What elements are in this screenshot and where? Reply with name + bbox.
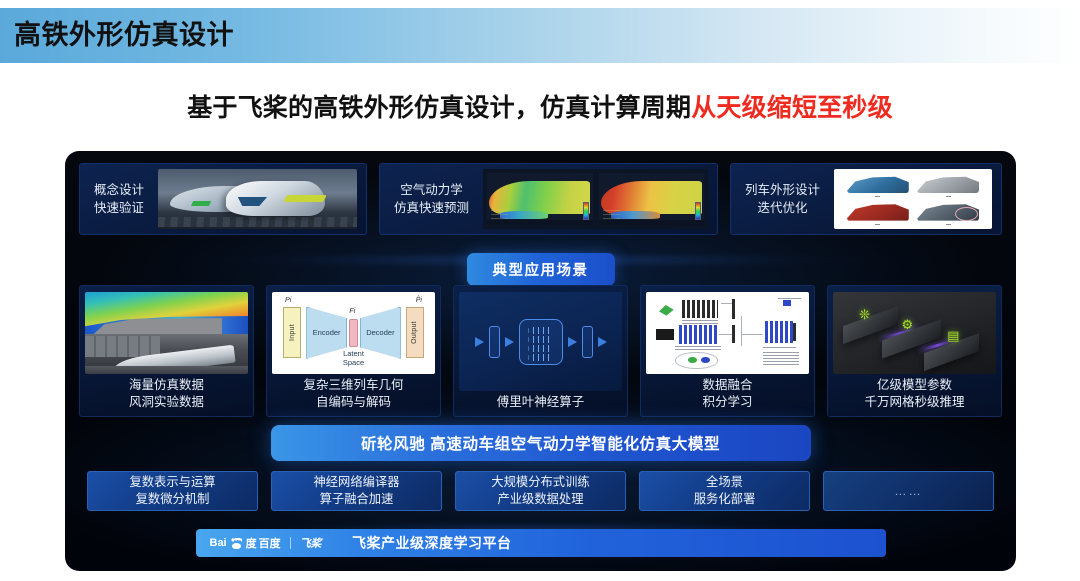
mid-card-line2: 自编码与解码 [316, 395, 391, 409]
top-card-label: 列车外形设计 迭代优化 [740, 181, 825, 217]
pill-line1: 大规模分布式训练 [491, 475, 589, 489]
pill-text: 全场景 服务化部署 [694, 474, 756, 508]
slide-root: 高铁外形仿真设计 基于飞桨的高铁外形仿真设计，仿真计算周期从天级缩短至秒级 概念… [0, 0, 1080, 581]
logo-divider [290, 537, 291, 549]
top-card-line2: 仿真快速预测 [394, 201, 469, 215]
ae-latent-block [349, 319, 357, 347]
pill-line2: 产业级数据处理 [497, 492, 583, 506]
mid-card-data-fusion[interactable]: 数据融合 积分学习 [640, 285, 815, 417]
top-card-line1: 空气动力学 [400, 183, 463, 197]
mid-card-line2: 风洞实验数据 [129, 395, 204, 409]
concept-train-photo-icon [158, 169, 357, 229]
ae-decoder-block: Decoder [360, 307, 401, 359]
data-fusion-poster-icon [646, 292, 809, 374]
mid-card-simulation-data[interactable]: 海量仿真数据 风洞实验数据 [79, 285, 254, 417]
mid-card-label: 复杂三维列车几何 自编码与解码 [303, 377, 403, 413]
mid-card-line1: 亿级模型参数 [877, 378, 952, 392]
capability-card-row: 海量仿真数据 风洞实验数据 Pi Fi P̂i Input Encoder [79, 285, 1002, 417]
pill-line2: 算子融合加速 [320, 492, 394, 506]
subtitle: 基于飞桨的高铁外形仿真设计，仿真计算周期从天级缩短至秒级 [0, 88, 1080, 124]
baidu-logo-cn: 百度 [259, 535, 281, 551]
big-model-banner[interactable]: 斫轮风驰 高速动车组空气动力学智能化仿真大模型 [271, 425, 811, 461]
top-card-label: 概念设计 快速验证 [89, 181, 149, 217]
pill-line1: 神经网络编译器 [313, 475, 399, 489]
isometric-compute-icon: ❊ ⚙ ▤ [833, 292, 996, 374]
ae-input-label: Input [289, 324, 296, 341]
pill-line1: …… [894, 483, 923, 500]
subtitle-black-part: 基于飞桨的高铁外形仿真设计，仿真计算周期 [187, 94, 691, 122]
cfd-contour-pair-icon [483, 169, 708, 229]
ae-latent-label: Latent Space [343, 349, 364, 368]
ae-latent-line1: Latent [343, 349, 364, 358]
pill-line1: 全场景 [706, 475, 743, 489]
pill-more[interactable]: …… [823, 471, 994, 511]
subtitle-red-part: 从天级缩短至秒级 [691, 94, 893, 122]
baidu-logo-suffix: 度 [246, 535, 257, 551]
pill-distributed-training[interactable]: 大规模分布式训练 产业级数据处理 [455, 471, 626, 511]
page-title: 高铁外形仿真设计 [14, 22, 234, 49]
ae-output-label: Output [411, 321, 418, 344]
pill-text: 神经网络编译器 算子融合加速 [313, 474, 399, 508]
ae-sym-input: Pi [285, 297, 291, 304]
pill-line1: 复数表示与运算 [129, 475, 215, 489]
ae-decoder-label: Decoder [366, 328, 394, 337]
ae-sym-output: P̂i [416, 297, 422, 304]
platform-capability-row: 复数表示与运算 复数微分机制 神经网络编译器 算子融合加速 大规模分布式训练 产… [87, 471, 994, 511]
pill-line2: 服务化部署 [694, 492, 756, 506]
ae-latent-line2: Space [343, 358, 364, 367]
mid-card-model-scale[interactable]: ❊ ⚙ ▤ 亿级模型参数 千万网格秒级推理 [827, 285, 1002, 417]
top-card-line2: 迭代优化 [758, 201, 808, 215]
mid-card-label: 亿级模型参数 千万网格秒级推理 [864, 377, 964, 413]
mid-card-line2: 积分学习 [702, 395, 752, 409]
scene-chip[interactable]: 典型应用场景 [467, 253, 615, 286]
platform-label: 飞桨产业级深度学习平台 [352, 533, 512, 553]
mid-card-line1: 海量仿真数据 [129, 378, 204, 392]
pill-neural-compiler[interactable]: 神经网络编译器 算子融合加速 [271, 471, 442, 511]
baidu-logo-prefix: Bai [210, 537, 227, 549]
pill-complex-arithmetic[interactable]: 复数表示与运算 复数微分机制 [87, 471, 258, 511]
wind-tunnel-cfd-icon [85, 292, 248, 374]
top-card-line2: 快速验证 [94, 201, 144, 215]
top-card-line1: 列车外形设计 [745, 183, 820, 197]
mid-card-line2: 千万网格秒级推理 [864, 395, 964, 409]
paw-icon [230, 538, 243, 549]
autoencoder-diagram-icon: Pi Fi P̂i Input Encoder Latent Space [272, 292, 435, 374]
top-card-label: 空气动力学 仿真快速预测 [389, 181, 474, 217]
mid-card-autoencoder[interactable]: Pi Fi P̂i Input Encoder Latent Space [266, 285, 441, 417]
mid-card-fourier-operator[interactable]: 傅里叶神经算子 [453, 285, 628, 417]
pill-line2: 复数微分机制 [136, 492, 210, 506]
ae-sym-latent: Fi [349, 308, 355, 315]
mid-card-label: 数据融合 积分学习 [702, 377, 752, 413]
mid-card-line1: 数据融合 [702, 378, 752, 392]
ae-output-block: Output [406, 307, 424, 358]
top-card-shape-iteration[interactable]: 列车外形设计 迭代优化 [730, 163, 1002, 235]
top-card-aerodynamics[interactable]: 空气动力学 仿真快速预测 [379, 163, 718, 235]
train-nose-variants-icon [834, 169, 992, 229]
fourier-neural-operator-icon [459, 292, 622, 391]
ae-encoder-label: Encoder [313, 328, 341, 337]
mid-card-line1: 傅里叶神经算子 [497, 395, 585, 409]
pill-text: 大规模分布式训练 产业级数据处理 [491, 474, 589, 508]
paddle-platform-banner[interactable]: Bai 度 百度 飞桨 飞桨产业级深度学习平台 [196, 529, 886, 557]
pill-text: 复数表示与运算 复数微分机制 [129, 474, 215, 508]
mid-card-label: 傅里叶神经算子 [497, 394, 585, 412]
mid-card-line1: 复杂三维列车几何 [303, 378, 403, 392]
baidu-logo: Bai 度 百度 [210, 535, 281, 551]
top-card-line1: 概念设计 [94, 183, 144, 197]
mid-card-label: 海量仿真数据 风洞实验数据 [129, 377, 204, 413]
pill-full-scenario-deploy[interactable]: 全场景 服务化部署 [639, 471, 810, 511]
ae-encoder-block: Encoder [306, 307, 347, 359]
header-bar: 高铁外形仿真设计 [0, 8, 1080, 63]
architecture-panel: 概念设计 快速验证 空气动力学 仿真快 [65, 151, 1016, 571]
application-scenario-row: 概念设计 快速验证 空气动力学 仿真快 [79, 163, 1002, 235]
ae-input-block: Input [283, 307, 301, 358]
top-card-concept-design[interactable]: 概念设计 快速验证 [79, 163, 367, 235]
paddle-logo: 飞桨 [300, 535, 321, 551]
